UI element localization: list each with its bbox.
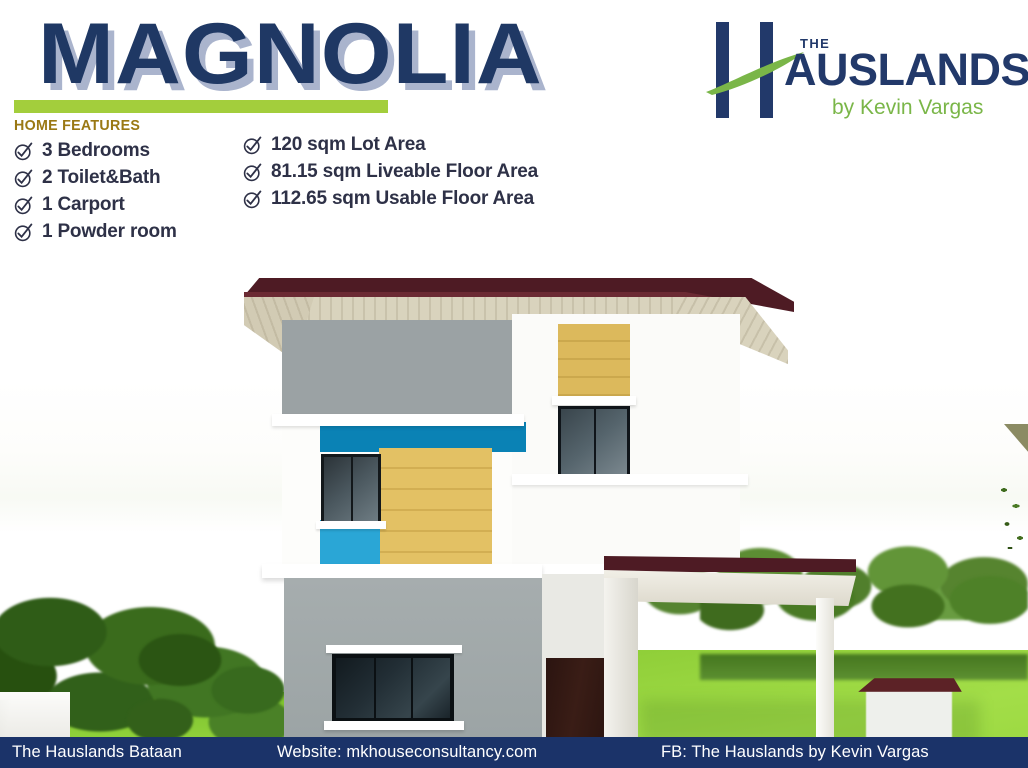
brand-logo[interactable]: THE AUSLANDS by Kevin Vargas: [700, 14, 1020, 126]
list-item: 1 Carport: [14, 194, 177, 216]
list-item: 1 Powder room: [14, 221, 177, 243]
window-sill-upper-left: [316, 521, 386, 529]
upper-ledge-left: [272, 414, 524, 426]
marketing-flyer: MAGNOLIA HOME FEATURES THE AUSLANDS by K…: [0, 0, 1028, 768]
list-item-label: 1 Carport: [42, 194, 125, 216]
check-circle-icon: [14, 169, 33, 188]
neighbour-house-roof: [858, 678, 962, 692]
footer-website[interactable]: Website: mkhouseconsultancy.com: [277, 743, 537, 762]
carport-roof-fascia: [604, 556, 856, 572]
window-upper-right: [558, 406, 630, 478]
window-header-right: [552, 396, 636, 405]
list-item: 112.65 sqm Usable Floor Area: [243, 188, 538, 210]
check-circle-icon: [14, 142, 33, 161]
window-sill-first-floor: [324, 721, 464, 730]
list-item: 81.15 sqm Liveable Floor Area: [243, 161, 538, 183]
check-circle-icon: [243, 136, 262, 155]
list-item-label: 1 Powder room: [42, 221, 177, 243]
neighbour-house: [866, 686, 952, 738]
yellow-slat-panel-right: [558, 324, 630, 396]
list-item-label: 120 sqm Lot Area: [271, 134, 426, 156]
check-circle-icon: [243, 190, 262, 209]
footer-location: The Hauslands Bataan: [12, 743, 182, 762]
window-lintel-first-floor: [326, 645, 462, 653]
section-label: HOME FEATURES: [14, 117, 140, 134]
header-panel: MAGNOLIA HOME FEATURES THE AUSLANDS by K…: [0, 0, 1028, 258]
list-item: 3 Bedrooms: [14, 140, 177, 162]
check-circle-icon: [14, 196, 33, 215]
window-first-floor: [332, 654, 454, 722]
check-circle-icon: [243, 163, 262, 182]
upper-ledge-right: [512, 474, 748, 485]
logo-name-text: AUSLANDS: [784, 46, 1028, 94]
window-upper-left: [321, 454, 381, 524]
feature-list-left: 3 Bedrooms 2 Toilet&Bath 1 Carport: [14, 140, 177, 248]
upper-wall-gray: [282, 320, 512, 420]
list-item-label: 81.15 sqm Liveable Floor Area: [271, 161, 538, 183]
foliage-top-right: [996, 480, 1028, 558]
main-house: [236, 278, 860, 768]
list-item-label: 2 Toilet&Bath: [42, 167, 160, 189]
title-underline-bar: [14, 100, 388, 113]
logo-byline-text: by Kevin Vargas: [832, 96, 983, 120]
page-title: MAGNOLIA: [38, 6, 543, 102]
check-circle-icon: [14, 223, 33, 242]
list-item: 120 sqm Lot Area: [243, 134, 538, 156]
footer-bar: The Hauslands Bataan Website: mkhousecon…: [0, 737, 1028, 768]
list-item-label: 112.65 sqm Usable Floor Area: [271, 188, 534, 210]
house-photo: [0, 180, 1028, 768]
list-item: 2 Toilet&Bath: [14, 167, 177, 189]
footer-facebook[interactable]: FB: The Hauslands by Kevin Vargas: [661, 743, 929, 762]
feature-list-right: 120 sqm Lot Area 81.15 sqm Liveable Floo…: [243, 134, 538, 215]
first-floor-ledge: [262, 564, 542, 578]
list-item-label: 3 Bedrooms: [42, 140, 150, 162]
